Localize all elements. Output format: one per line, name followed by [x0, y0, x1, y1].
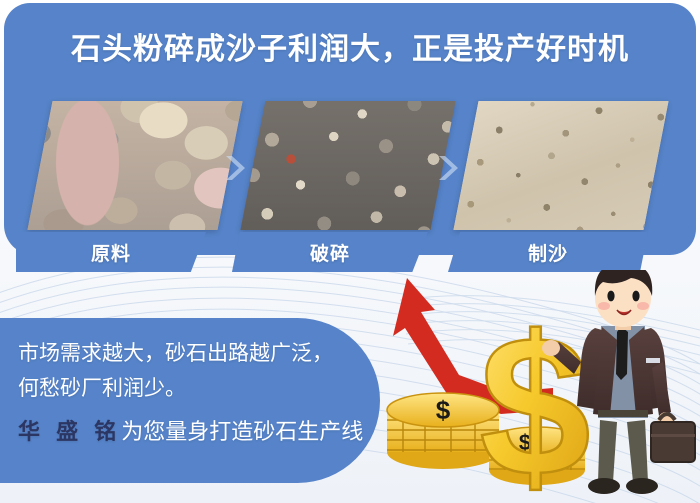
svg-text:$: $: [479, 295, 590, 503]
brand-name: 华 盛 铭: [18, 419, 121, 444]
raw-pebbles-photo: [27, 101, 242, 230]
manufactured-sand-photo: [453, 101, 668, 230]
briefcase-icon: [651, 414, 695, 462]
crushed-gravel-photo: [240, 101, 455, 230]
process-label-text: 破碎: [310, 239, 350, 266]
process-label-text: 原料: [91, 239, 131, 266]
business-growth-illustration: $ $ $: [355, 270, 700, 503]
brand-tagline: 为您量身打造砂石生产线: [121, 419, 363, 444]
process-label-crushing: 破碎: [232, 232, 428, 272]
process-image-raw-material: [27, 101, 242, 230]
dollar-sign-icon: $: [479, 295, 590, 503]
chevron-right-icon: [224, 154, 250, 182]
process-label-raw-material: 原料: [16, 232, 206, 272]
page-title: 石头粉碎成沙子利润大，正是投产好时机: [0, 24, 700, 68]
poster-canvas: 石头粉碎成沙子利润大，正是投产好时机 原料 破碎 制沙: [0, 0, 700, 503]
promo-line-1: 市场需求越大，砂石出路越广泛，: [18, 337, 333, 367]
process-image-crushing: [240, 101, 455, 230]
promo-brand-line: 华 盛 铭为您量身打造砂石生产线: [18, 414, 363, 446]
process-label-text: 制沙: [528, 239, 568, 266]
coin-dollar-symbol: $: [436, 395, 451, 425]
process-image-sand-making: [453, 101, 668, 230]
chevron-right-icon: [437, 154, 463, 182]
process-label-sand-making: 制沙: [448, 232, 648, 272]
promo-line-2: 何愁砂厂利润少。: [18, 372, 186, 402]
